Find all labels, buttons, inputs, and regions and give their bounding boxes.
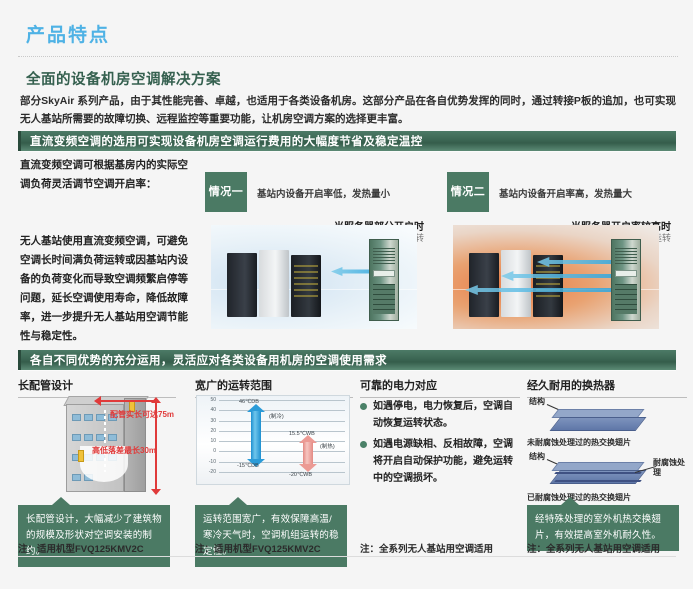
note-heat-exchanger: 注：全系列无人基站用空调适用 — [527, 541, 660, 555]
fin-caption-treated: 已耐腐蚀处理过的热交换翅片 — [527, 492, 631, 503]
operating-range-chart: 50 40 30 20 10 0 -10 -20 46℃DB -15℃DB (制… — [196, 395, 350, 485]
heat-exchanger-diagram: 结构 未耐腐蚀处理过的热交换翅片 结构 已耐腐蚀处理过的热交换翅片 耐腐蚀处理 — [527, 396, 687, 506]
column-heading: 可靠的电力对应 — [360, 377, 520, 398]
intro-paragraph: 部分SkyAir 系列产品，由于其性能完善、卓越，也适用于各类设备机房。这部分产… — [20, 92, 676, 128]
structure-label-2: 结构 — [529, 451, 545, 462]
cooling-mode-label: (制冷) — [269, 412, 284, 420]
y-tick-label: -10 — [209, 459, 216, 465]
server-rack-dark-1 — [469, 253, 499, 317]
ac-panel — [615, 270, 637, 277]
column-power-response: 可靠的电力对应 — [360, 377, 520, 398]
server-rack-dark-1 — [227, 253, 257, 317]
section-bar-label: 各自不同优势的充分运用，灵活应对各类设备用机房的空调使用需求 — [30, 352, 387, 368]
anticorrosion-treatment-label: 耐腐蚀处理 — [653, 458, 687, 478]
fin-caption-untreated: 未耐腐蚀处理过的热交换翅片 — [527, 437, 631, 448]
air-conditioner-unit-1 — [369, 239, 399, 321]
cooling-max-label: 46℃DB — [239, 399, 259, 405]
section-bar-label: 直流变频空调的选用可实现设备机房空调运行费用的大幅度节省及稳定温控 — [30, 133, 423, 149]
y-tick-label: 40 — [210, 407, 216, 413]
gridline: 0 — [219, 451, 345, 452]
section-bar-advantages: 各自不同优势的充分运用，灵活应对各类设备用机房的空调使用需求 — [18, 350, 676, 370]
note-operating-range: 注：适用机型FVQ125KMV2C — [195, 541, 321, 555]
heating-max-label: 15.5℃WB — [289, 431, 315, 437]
ac-panel — [373, 270, 395, 277]
gridline: 30 — [219, 421, 345, 422]
note-power-response: 注：全系列无人基站用空调适用 — [360, 541, 493, 555]
cooling-range-bar — [247, 404, 265, 467]
note-long-piping: 注：适用机型FVQ125KMV2C — [18, 541, 144, 555]
bullet-item: 如遇停电，电力恢复后，空调自动恢复运转状态。 — [360, 398, 522, 432]
chart-plot-area: 50 40 30 20 10 0 -10 -20 46℃DB -15℃DB (制… — [219, 400, 345, 472]
ac-vent — [373, 248, 395, 266]
server-room-photo-partial-load — [211, 225, 417, 329]
case-caption-2: 基站内设备开启率高，发热量大 — [499, 186, 632, 200]
page-canvas: 产品特点 全面的设备机房空调解决方案 部分SkyAir 系列产品，由于其性能完善… — [0, 0, 693, 589]
callout-operating-range: 运转范围宽广，有效保障高温/寒冷天气时，空调机组运转的稳定性。 — [195, 505, 347, 567]
ac-grille — [615, 284, 637, 314]
server-rack-white — [259, 250, 289, 317]
bullet-item: 如遇电源缺相、反相故障，空调将开启自动保护功能，避免运转中的空调损坏。 — [360, 436, 522, 487]
column-heading: 经久耐用的换热器 — [527, 377, 687, 398]
y-tick-label: 0 — [213, 448, 216, 454]
server-room-photo-full-load — [453, 225, 659, 329]
arrow-head-down — [299, 464, 317, 472]
server-rack-white — [501, 250, 531, 317]
gridline: 50 — [219, 400, 345, 401]
piping-arrow-horizontal — [100, 400, 156, 402]
coating-layer-lower — [554, 480, 642, 482]
y-tick-label: -20 — [209, 469, 216, 475]
page-title: 产品特点 — [26, 20, 110, 47]
indoor-unit-icon — [78, 450, 84, 462]
building-diagram: 配管实长可达75m 高低落差最长30m — [18, 394, 180, 502]
arrow-shaft — [251, 411, 261, 460]
arrow-shaft — [303, 442, 313, 465]
bottom-divider — [18, 556, 676, 557]
heating-min-label: -20℃WB — [289, 472, 312, 478]
y-tick-label: 30 — [210, 418, 216, 424]
height-difference-label: 高低落差最长30m — [92, 446, 156, 456]
piping-dotted-line — [104, 410, 106, 472]
y-tick-label: 10 — [210, 438, 216, 444]
section1-lead-text: 直流变频空调可根据基房内的实际空调负荷灵活调节空调开启率： — [20, 156, 190, 194]
pipe-length-label: 配管实长可达75m — [110, 410, 174, 420]
ac-grille — [373, 284, 395, 314]
ac-vent — [615, 248, 637, 266]
product-features-page: 产品特点 全面的设备机房空调解决方案 部分SkyAir 系列产品，由于其性能完善… — [0, 0, 693, 589]
fin-slab-untreated — [550, 417, 647, 431]
callout-long-piping: 长配管设计，大幅减少了建筑物的规模及形状对空调安装的制约。 — [18, 505, 170, 567]
section-bar-energy-saving: 直流变频空调的选用可实现设备机房空调运行费用的大幅度节省及稳定温控 — [18, 131, 676, 151]
case-badge-2: 情况二 — [447, 172, 489, 212]
heating-mode-label: (制热) — [320, 442, 335, 450]
case-badge-1: 情况一 — [205, 172, 247, 212]
power-response-bullets: 如遇停电，电力恢复后，空调自动恢复运转状态。 如遇电源缺相、反相故障，空调将开启… — [360, 398, 522, 491]
sub-heading: 全面的设备机房空调解决方案 — [26, 68, 221, 89]
y-tick-label: 20 — [210, 428, 216, 434]
gridline: 20 — [219, 431, 345, 432]
column-heat-exchanger: 经久耐用的换热器 — [527, 377, 687, 398]
gridline: -20 — [219, 472, 345, 473]
section1-body-text: 无人基站使用直流变频空调，可避免空调长时间满负荷运转或因基站内设备的负荷变化而导… — [20, 232, 198, 346]
server-rack-dark-2 — [291, 255, 321, 317]
heating-range-bar — [299, 435, 317, 472]
coating-layer-upper — [554, 472, 642, 474]
structure-label-1: 结构 — [529, 396, 545, 407]
case-caption-1: 基站内设备开启率低，发热量小 — [257, 186, 390, 200]
y-tick-label: 50 — [210, 397, 216, 403]
title-divider — [18, 56, 678, 57]
air-conditioner-unit-2 — [611, 239, 641, 321]
cooling-min-label: -15℃DB — [237, 463, 259, 469]
